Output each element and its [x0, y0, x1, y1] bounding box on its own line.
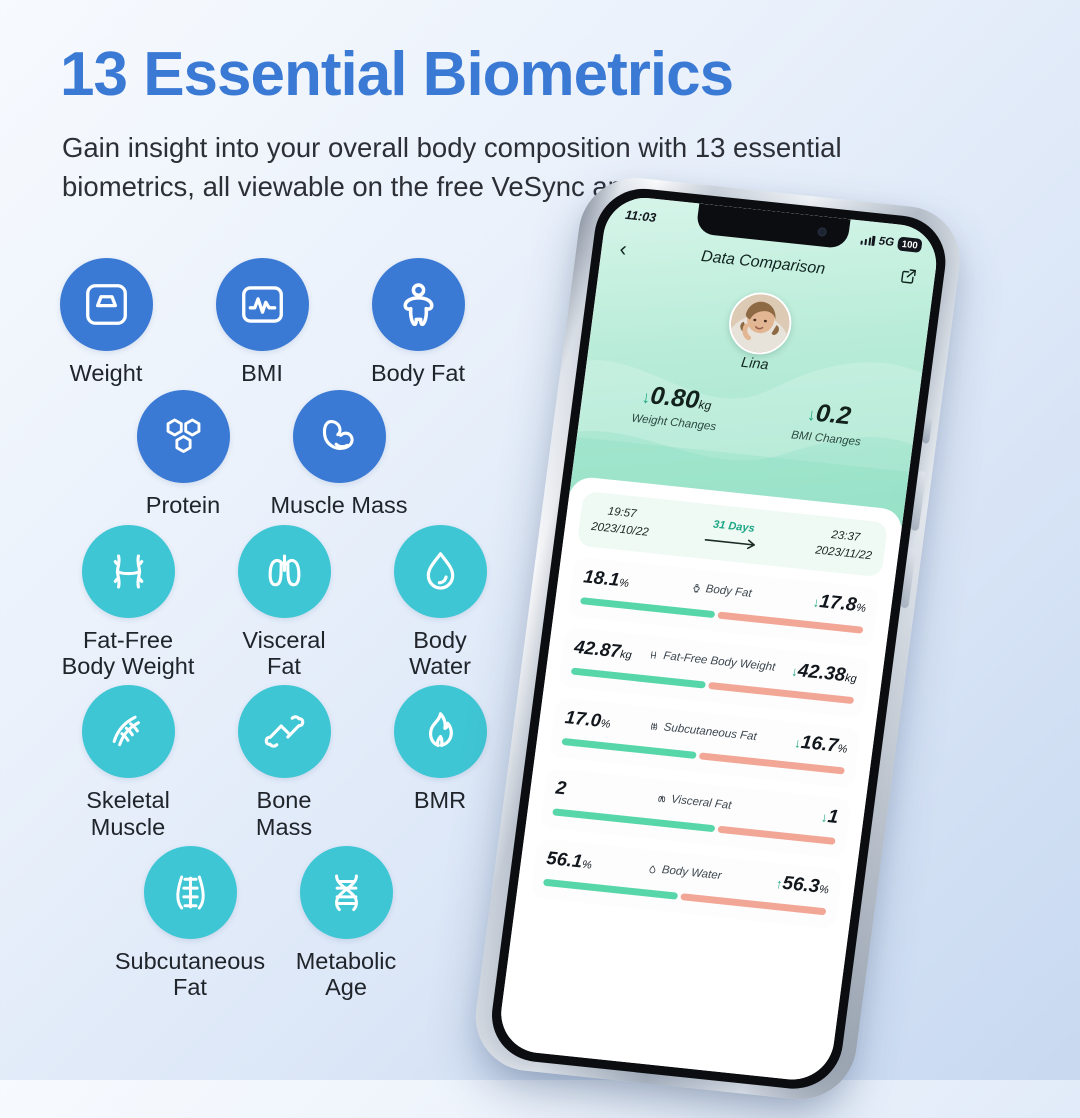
page-title: 13 Essential Biometrics: [60, 42, 860, 107]
biometric-label: Subcutaneous Fat: [115, 948, 265, 1001]
biometric-label: Skeletal Muscle: [86, 787, 170, 840]
biometric-label: Body Fat: [371, 360, 465, 386]
biometric-item-body-water: Body Water: [362, 525, 518, 680]
biometric-label: Visceral Fat: [242, 627, 325, 680]
biometric-item-protein: Protein: [105, 390, 261, 518]
weight-change-value: 0.80: [649, 381, 701, 414]
bar-start: [543, 878, 678, 899]
date-range-duration: 31 Days: [703, 518, 762, 551]
metric-end-value: 17.8: [818, 591, 858, 616]
phone-body: 11:03 5G 100 ‹ Data Comparison: [486, 184, 951, 1093]
metric-name: Subcutaneous Fat: [648, 720, 757, 743]
metric-start-unit: %: [581, 858, 592, 871]
biometric-label: Protein: [146, 492, 220, 518]
date-range-end: 23:37 2023/11/22: [814, 526, 875, 566]
hexagon-molecule-icon: [137, 390, 230, 483]
metric-end-unit: %: [818, 883, 829, 896]
biometrics-grid: Weight BMI Body Fat: [0, 258, 520, 1007]
arrow-right-icon: [703, 534, 760, 550]
biometric-item-weight: Weight: [28, 258, 184, 386]
comparison-sheet: 19:57 2023/10/22 31 Days 23:37 2023/11/2…: [496, 476, 904, 1084]
biometric-label: BMR: [414, 787, 466, 813]
biometric-item-visceral-fat: Visceral Fat: [206, 525, 362, 680]
visceral-icon: [655, 793, 667, 805]
bar-start: [580, 597, 715, 618]
app-title: Data Comparison: [700, 248, 826, 279]
biometric-label: Muscle Mass: [270, 492, 407, 518]
phone-mockup: 11:03 5G 100 ‹ Data Comparison: [484, 184, 999, 1118]
biometric-item-bmr: BMR: [362, 685, 518, 840]
date-range-start: 19:57 2023/10/22: [590, 502, 652, 542]
duration-label: 31 Days: [705, 518, 762, 536]
flexed-arm-icon: [293, 390, 386, 483]
metric-start-unit: kg: [619, 648, 632, 661]
poster-canvas: 13 Essential Biometrics Gain insight int…: [0, 0, 1080, 1080]
chart-monitor-icon: [216, 258, 309, 351]
biometric-label: BMI: [241, 360, 283, 386]
metric-name: Body Water: [646, 862, 722, 882]
metric-end-value: 1: [827, 806, 840, 828]
metric-end-unit: %: [837, 742, 848, 755]
biometric-label: Fat-Free Body Weight: [62, 627, 195, 680]
subcutaneous-icon: [648, 720, 660, 732]
biometric-item-muscle-mass: Muscle Mass: [261, 390, 417, 518]
network-label: 5G: [878, 235, 895, 249]
metric-end-unit: kg: [844, 672, 857, 685]
flame-icon: [394, 685, 487, 778]
battery-indicator: 100: [897, 237, 923, 253]
biometric-item-skeletal-muscle: Skeletal Muscle: [50, 685, 206, 840]
biometric-label: Weight: [70, 360, 143, 386]
front-camera-icon: [817, 227, 827, 237]
biometric-item-metabolic-age: Metabolic Age: [268, 846, 424, 1001]
dna-icon: [300, 846, 393, 939]
metric-start-value: 42.87: [573, 635, 622, 661]
status-time: 11:03: [624, 208, 657, 225]
weight-change-unit: kg: [698, 397, 712, 412]
metric-end-value: 16.7: [800, 731, 840, 756]
metric-name: Body Fat: [690, 582, 752, 600]
metric-end-value: 42.38: [797, 660, 847, 686]
bar-end: [717, 825, 835, 844]
torso-icon: [144, 846, 237, 939]
bmi-change-stat: ↓0.2 BMI Changes: [791, 397, 866, 449]
metric-start-unit: %: [618, 577, 629, 590]
scale-icon: [60, 258, 153, 351]
signal-icon: [860, 235, 875, 246]
biometric-item-body-fat: Body Fat: [340, 258, 496, 386]
metric-start-value: 18.1: [582, 565, 621, 590]
metric-name: Fat-Free Body Weight: [648, 649, 776, 674]
share-icon[interactable]: [898, 267, 918, 291]
metric-start-unit: %: [600, 717, 611, 730]
muscle-fiber-icon: [82, 685, 175, 778]
body-fat-icon: [690, 582, 702, 594]
biometric-label: Body Water: [409, 627, 471, 680]
biometric-item-bmi: BMI: [184, 258, 340, 386]
bar-start: [562, 737, 697, 758]
bone-icon: [238, 685, 331, 778]
metric-name: Visceral Fat: [655, 792, 732, 812]
fat-free-icon: [648, 649, 660, 661]
waist-icon: [82, 525, 175, 618]
bmi-change-value: 0.2: [814, 399, 852, 430]
bar-start: [571, 667, 706, 688]
biometric-item-subcutaneous-fat: Subcutaneous Fat: [112, 846, 268, 1001]
chevron-left-icon[interactable]: ‹: [618, 238, 628, 260]
body-figure-icon: [372, 258, 465, 351]
metric-start-value: 17.0: [564, 706, 603, 731]
water-drop-icon: [394, 525, 487, 618]
metric-start-value: 2: [555, 776, 568, 798]
biometric-item-fat-free-body-weight: Fat-Free Body Weight: [50, 525, 206, 680]
biometric-label: Metabolic Age: [296, 948, 397, 1001]
metric-end-value: 56.3: [781, 872, 821, 897]
biometric-label: Bone Mass: [256, 787, 312, 840]
phone-screen: 11:03 5G 100 ‹ Data Comparison: [496, 194, 941, 1084]
lungs-icon: [238, 525, 331, 618]
metric-end-unit: %: [855, 601, 866, 614]
body-water-icon: [646, 863, 658, 875]
weight-change-stat: ↓0.80kg Weight Changes: [631, 380, 721, 433]
metric-start-value: 56.1: [545, 846, 584, 871]
biometric-item-bone-mass: Bone Mass: [206, 685, 362, 840]
